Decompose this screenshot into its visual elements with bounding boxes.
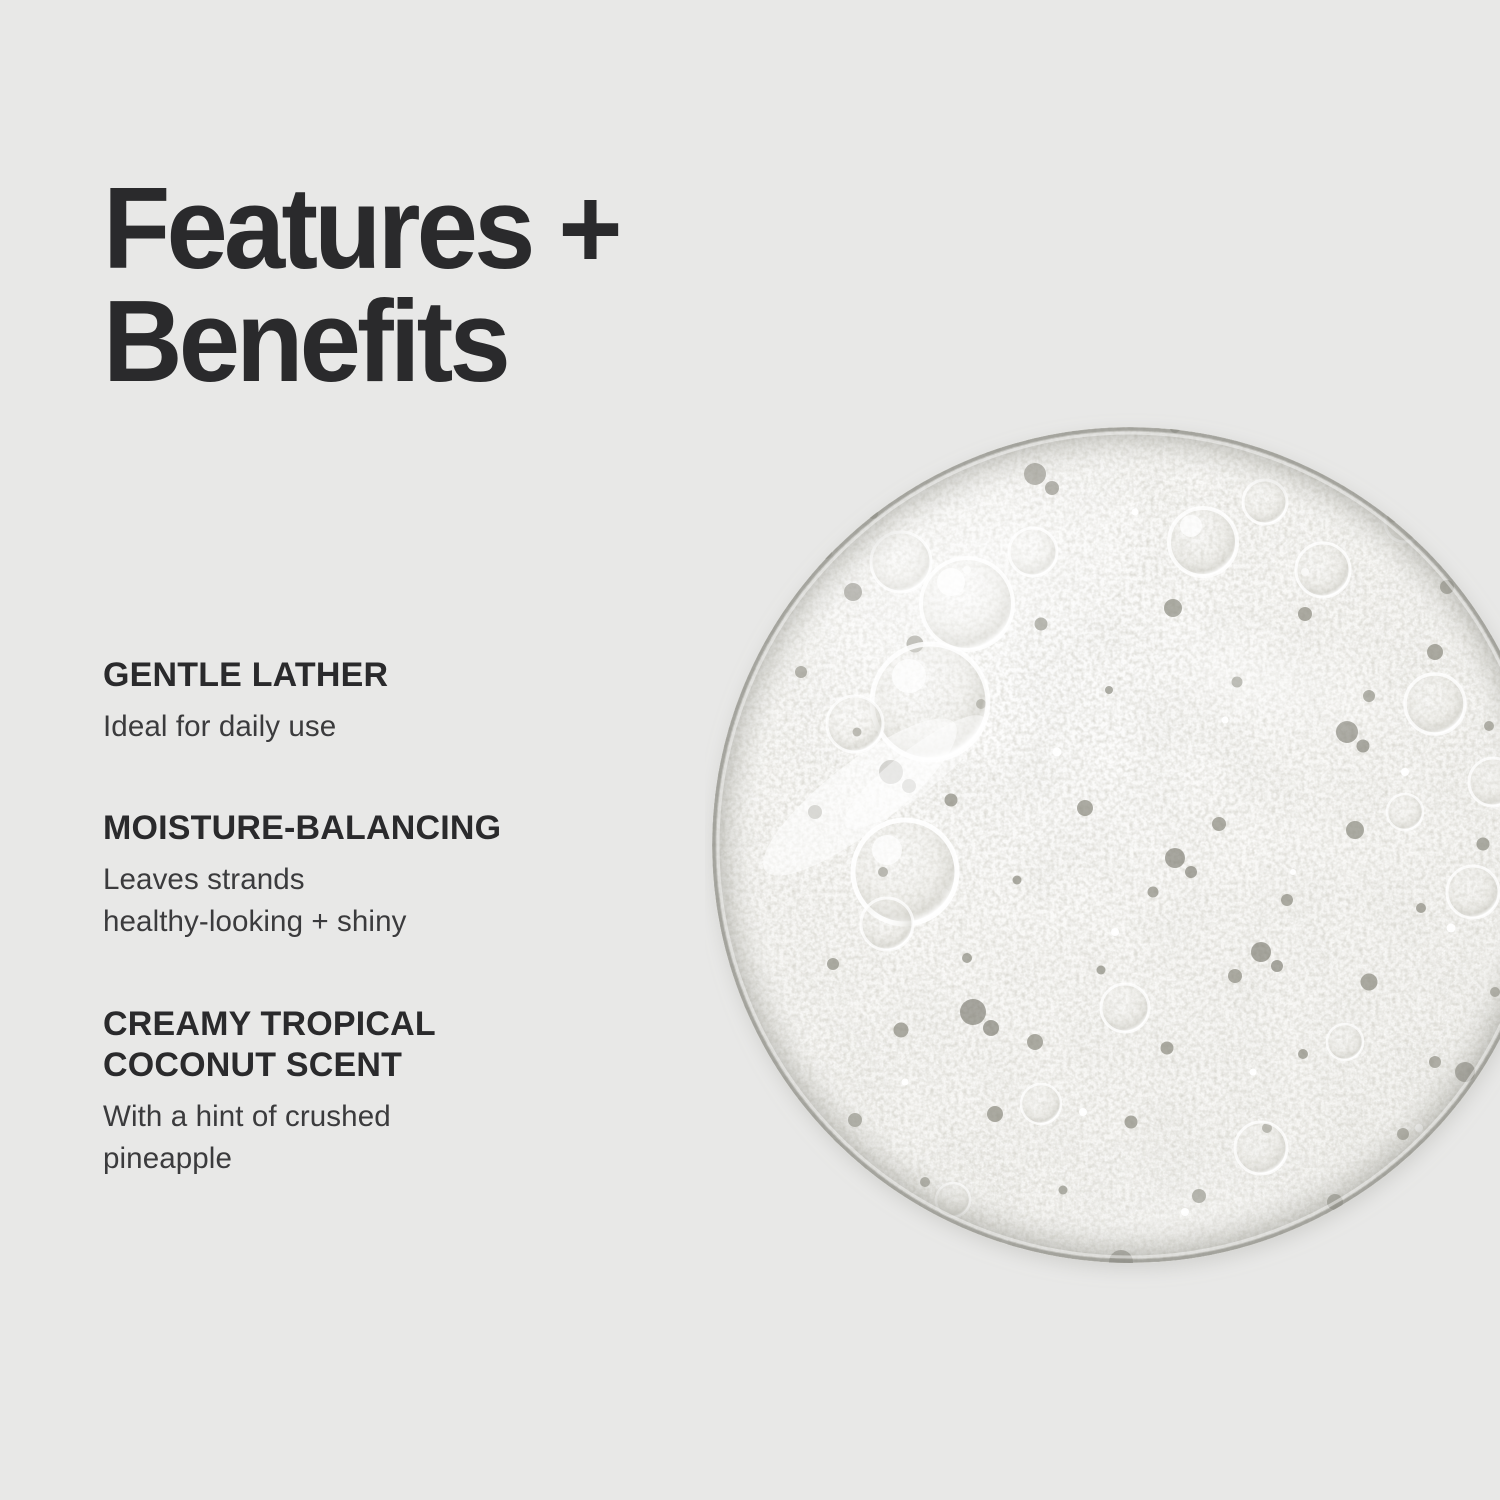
text-column: Features + Benefits GENTLE LATHER Ideal … — [103, 0, 723, 1500]
feature-item-gentle-lather: GENTLE LATHER Ideal for daily use — [103, 655, 723, 747]
feature-heading: GENTLE LATHER — [103, 655, 714, 697]
feature-heading: CREAMY TROPICAL COCONUT SCENT — [103, 1004, 714, 1087]
feature-item-moisture-balancing: MOISTURE-BALANCING Leaves strands health… — [103, 808, 723, 942]
product-gel-swatch-image — [705, 252, 1500, 1437]
promo-canvas: Features + Benefits GENTLE LATHER Ideal … — [0, 0, 1500, 1500]
feature-item-coconut-scent: CREAMY TROPICAL COCONUT SCENT With a hin… — [103, 1004, 723, 1180]
feature-heading: MOISTURE-BALANCING — [103, 808, 714, 850]
clear-gel-droplet-illustration — [705, 252, 1500, 1437]
feature-body: With a hint of crushed pineapple — [103, 1096, 714, 1179]
page-title: Features + Benefits — [103, 172, 825, 397]
feature-body: Leaves strands healthy-looking + shiny — [103, 859, 714, 942]
feature-body: Ideal for daily use — [103, 706, 714, 748]
feature-list: GENTLE LATHER Ideal for daily use MOISTU… — [103, 655, 723, 1179]
